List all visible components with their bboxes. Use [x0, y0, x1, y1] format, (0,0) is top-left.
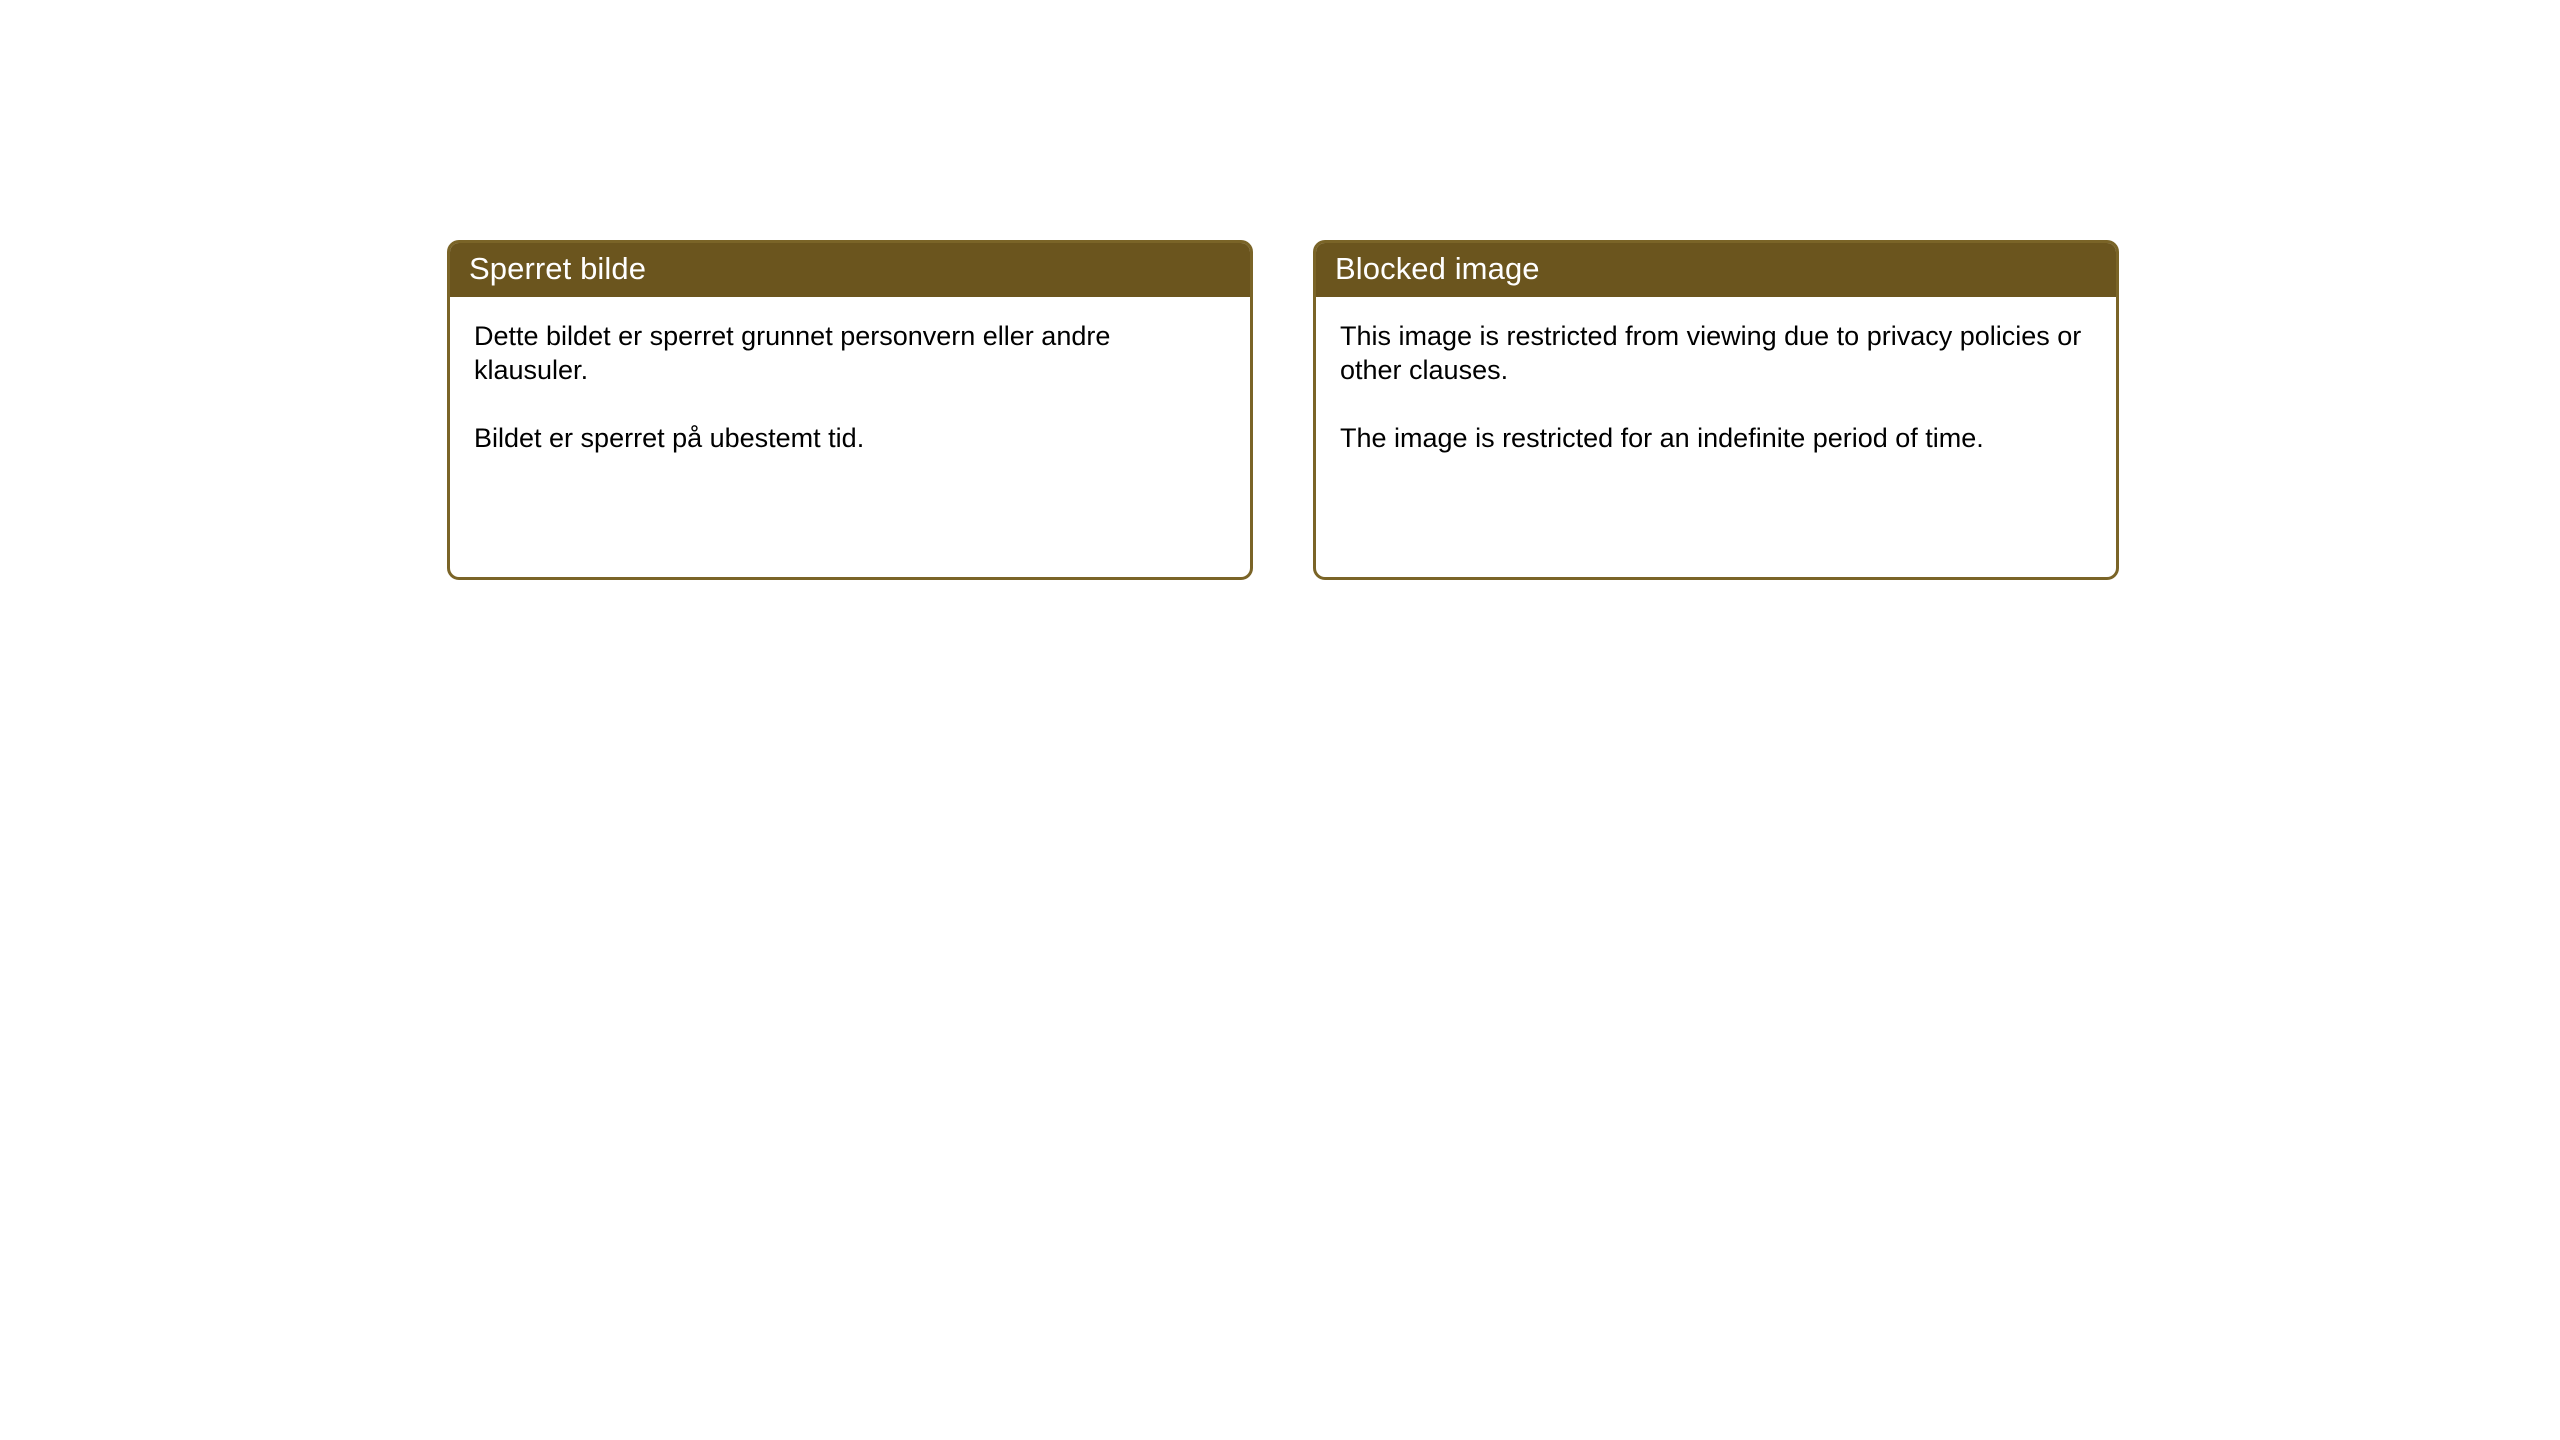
notice-body-norwegian: Dette bildet er sperret grunnet personve… — [450, 297, 1250, 455]
notice-title-english: Blocked image — [1335, 252, 1540, 286]
notice-title-norwegian: Sperret bilde — [469, 252, 646, 286]
page-root: Sperret bilde Dette bildet er sperret gr… — [0, 0, 2560, 1440]
notice-paragraph-duration-norwegian: Bildet er sperret på ubestemt tid. — [474, 421, 1224, 455]
notice-header-norwegian: Sperret bilde — [447, 240, 1253, 297]
blocked-image-notice-english: Blocked image This image is restricted f… — [1313, 240, 2119, 580]
notice-paragraph-reason-english: This image is restricted from viewing du… — [1340, 319, 2090, 387]
notice-paragraph-duration-english: The image is restricted for an indefinit… — [1340, 421, 2090, 455]
notice-header-english: Blocked image — [1313, 240, 2119, 297]
notice-body-english: This image is restricted from viewing du… — [1316, 297, 2116, 455]
notice-paragraph-reason-norwegian: Dette bildet er sperret grunnet personve… — [474, 319, 1224, 387]
blocked-image-notice-norwegian: Sperret bilde Dette bildet er sperret gr… — [447, 240, 1253, 580]
